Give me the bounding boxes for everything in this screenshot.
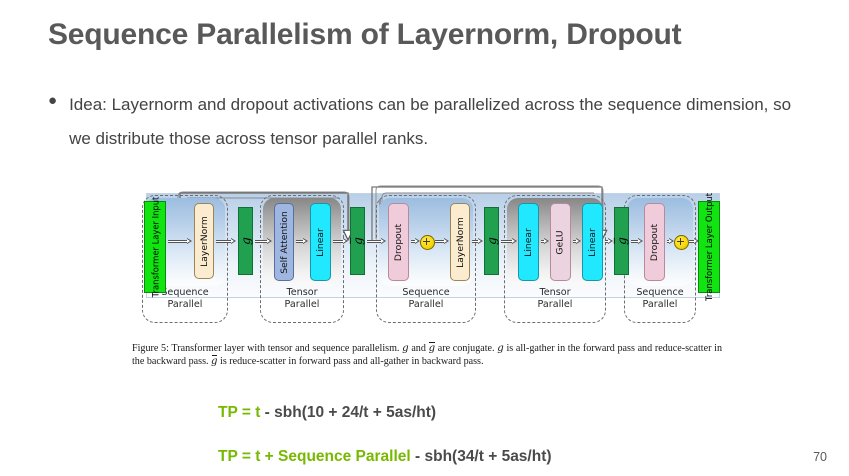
- caption-part-2: and: [409, 343, 429, 354]
- caption-symbol-gbar-2: g: [211, 356, 217, 369]
- group-label-sequence-parallel-3: Sequence Parallel: [624, 287, 696, 310]
- flow-arrow-dropout1-to-add1: [411, 238, 420, 245]
- equation-2-highlight: TP = t + Sequence Parallel: [218, 448, 411, 465]
- flow-arrow-gelu-to-linear3: [573, 238, 581, 245]
- flow-arrow-linear1-to-gbar1: [333, 238, 348, 245]
- slide-root: Sequence Parallelism of Layernorm, Dropo…: [0, 0, 849, 476]
- equation-tensor-sequence-parallel: TP = t + Sequence Parallel - sbh(34/t + …: [218, 448, 552, 466]
- block-dropout-2: Dropout: [644, 203, 665, 281]
- page-title: Sequence Parallelism of Layernorm, Dropo…: [48, 18, 828, 52]
- block-dropout-1: Dropout: [388, 203, 409, 281]
- flow-arrow-layernorm2-to-g2: [472, 238, 483, 245]
- equation-tensor-parallel: TP = t - sbh(10 + 24/t + 5as/ht): [218, 404, 436, 422]
- flow-arrow-layernorm1-to-g1: [216, 238, 236, 245]
- equation-1-rest: - sbh(10 + 24/t + 5as/ht): [260, 404, 436, 421]
- flow-arrow-attention-to-linear1: [296, 238, 308, 245]
- equation-1-highlight: TP = t: [218, 404, 260, 421]
- flow-arrow-linear3-to-gbar2: [605, 238, 613, 245]
- figure-transformer-layer: Sequence Parallel Tensor Parallel Sequen…: [132, 183, 722, 328]
- flow-arrow-g1-to-attention: [255, 238, 272, 245]
- block-layernorm-1: LayerNorm: [194, 203, 214, 279]
- caption-part-8: is reduce-scatter in forward pass and al…: [218, 356, 484, 367]
- block-linear-2: Linear: [518, 203, 539, 281]
- caption-part-4: are conjugate.: [435, 343, 497, 354]
- flow-arrow-add2-to-output: [689, 238, 699, 245]
- group-label-tensor-parallel-1: Tensor Parallel: [260, 287, 344, 310]
- residual-add-node-1: [420, 235, 435, 250]
- flow-arrow-add1-to-layernorm2: [435, 238, 449, 245]
- bullet-text: Idea: Layernorm and dropout activations …: [69, 88, 808, 156]
- block-gelu: GeLU: [550, 203, 571, 281]
- block-linear-3: Linear: [582, 203, 603, 281]
- group-label-tensor-parallel-2: Tensor Parallel: [504, 287, 606, 310]
- block-transformer-layer-input: Transformer Layer Input: [144, 201, 166, 293]
- block-g-1: g: [238, 207, 253, 275]
- block-transformer-layer-output: Transformer Layer Output: [698, 201, 720, 293]
- flow-arrow-input-to-layernorm1: [168, 238, 192, 245]
- figure-caption: Figure 5: Transformer layer with tensor …: [132, 343, 722, 368]
- block-layernorm-2: LayerNorm: [450, 203, 470, 281]
- caption-symbol-gbar-1: g: [429, 343, 435, 356]
- block-self-attention: Self Attention: [274, 203, 294, 281]
- block-linear-1: Linear: [310, 203, 331, 281]
- block-g-2: g: [484, 207, 499, 275]
- block-g-bar-2: g: [614, 207, 629, 275]
- block-g-bar-1: g: [350, 207, 365, 275]
- equation-2-rest: - sbh(34/t + 5as/ht): [411, 448, 552, 465]
- flow-arrow-gbar2-to-dropout2: [631, 238, 643, 245]
- flow-arrow-dropout2-to-add2: [667, 238, 674, 245]
- group-label-sequence-parallel-2: Sequence Parallel: [376, 287, 476, 310]
- bullet-marker-icon: ●: [48, 88, 57, 114]
- flow-arrow-gbar1-to-dropout1: [367, 238, 386, 245]
- residual-add-node-2: [674, 235, 689, 250]
- caption-lead: Figure 5: Transformer layer with tensor …: [132, 343, 399, 354]
- flow-arrow-g2-to-linear2: [501, 238, 517, 245]
- page-number: 70: [813, 450, 827, 464]
- bullet-item: ● Idea: Layernorm and dropout activation…: [48, 88, 808, 156]
- flow-arrow-linear2-to-gelu: [541, 238, 549, 245]
